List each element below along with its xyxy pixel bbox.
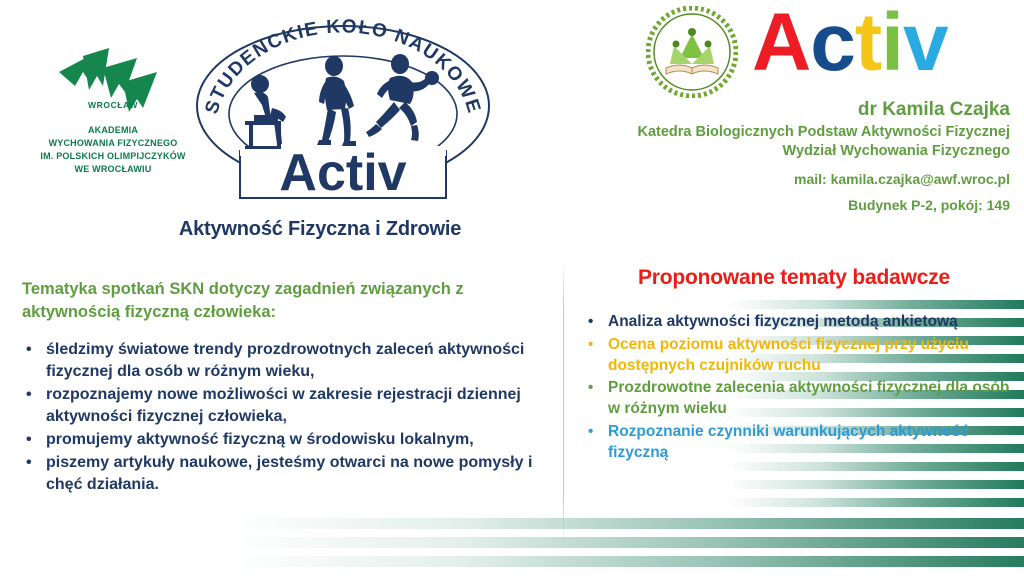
stripe-band	[0, 556, 1024, 567]
stripe-band	[600, 498, 1024, 507]
right-bullet-list: •Analiza aktywności fizycznej metodą ank…	[580, 312, 1018, 463]
bottom-stripes-decoration	[0, 518, 1024, 576]
right-bullet-text: Rozpoznanie czynniki warunkujących aktyw…	[608, 423, 969, 461]
awf-wroclaw-logo: WROCŁAW AKADEMIA WYCHOWANIA FIZYCZNEGO I…	[18, 42, 208, 176]
right-bullet-item: •Rozpoznanie czynniki warunkujących akty…	[580, 422, 1018, 464]
bullet-dot-icon: •	[26, 452, 32, 474]
stn-awf-seal-icon	[646, 6, 738, 98]
bullet-dot-icon: •	[26, 339, 32, 361]
left-column-heading: Tematyka spotkań SKN dotyczy zagadnień z…	[22, 278, 550, 325]
left-bullet-item: •rozpoznajemy nowe możliwości w zakresie…	[22, 384, 550, 428]
right-bullet-item: •Ocena poziomu aktywności fizycznej przy…	[580, 335, 1018, 377]
contact-faculty: Wydział Wychowania Fizycznego	[530, 142, 1010, 161]
right-bullet-item: •Analiza aktywności fizycznej metodą ank…	[580, 312, 1018, 333]
left-bullet-item: •promujemy aktywność fizyczną w środowis…	[22, 429, 550, 451]
activ-letter-i: i	[881, 0, 903, 88]
left-bullet-text: rozpoznajemy nowe możliwości w zakresie …	[46, 386, 521, 425]
awf-line-4: WE WROCŁAWIU	[18, 163, 208, 176]
left-content-column: Tematyka spotkań SKN dotyczy zagadnień z…	[22, 278, 550, 497]
right-bullet-item: •Prozdrowotne zalecenia aktywności fizyc…	[580, 378, 1018, 420]
bullet-dot-icon: •	[588, 378, 593, 398]
bullet-dot-icon: •	[26, 429, 32, 451]
activ-wordmark: Activ	[752, 2, 948, 84]
stripe-band	[0, 518, 1024, 529]
left-bullet-text: śledzimy światowe trendy prozdrowotnych …	[46, 341, 524, 380]
contact-block: dr Kamila Czajka Katedra Biologicznych P…	[530, 98, 1010, 213]
bullet-dot-icon: •	[26, 384, 32, 406]
right-bullet-text: Prozdrowotne zalecenia aktywności fizycz…	[608, 379, 1009, 417]
awf-name-lines: AKADEMIA WYCHOWANIA FIZYCZNEGO IM. POLSK…	[18, 124, 208, 176]
skn-activ-text: Activ	[279, 144, 406, 202]
left-bullet-text: piszemy artykuły naukowe, jesteśmy otwar…	[46, 454, 532, 493]
awf-line-1: AKADEMIA	[18, 124, 208, 137]
slide-canvas: WROCŁAW AKADEMIA WYCHOWANIA FIZYCZNEGO I…	[0, 0, 1024, 576]
left-bullet-item: •piszemy artykuły naukowe, jesteśmy otwa…	[22, 452, 550, 496]
skn-subtitle: Aktywność Fizyczna i Zdrowie	[140, 218, 500, 241]
right-bullet-text: Analiza aktywności fizycznej metodą anki…	[608, 313, 958, 330]
contact-department: Katedra Biologicznych Podstaw Aktywności…	[530, 123, 1010, 142]
skn-activ-logo: STUDENCKIE KOŁO NAUKOWE	[188, 2, 498, 214]
activ-letter-c: c	[810, 0, 855, 88]
awf-line-2: WYCHOWANIA FIZYCZNEGO	[18, 137, 208, 150]
activ-letter-a: A	[752, 0, 810, 88]
left-bullet-text: promujemy aktywność fizyczną w środowisk…	[46, 431, 474, 448]
right-column-heading: Proponowane tematy badawcze	[580, 266, 1018, 290]
right-content-column: Proponowane tematy badawcze •Analiza akt…	[580, 266, 1018, 465]
awf-line-3: IM. POLSKICH OLIMPIJCZYKÓW	[18, 150, 208, 163]
activ-letter-v: v	[903, 0, 948, 88]
left-bullet-list: •śledzimy światowe trendy prozdrowotnych…	[22, 339, 550, 497]
contact-email: mail: kamila.czajka@awf.wroc.pl	[530, 171, 1010, 187]
bullet-dot-icon: •	[588, 422, 593, 442]
left-bullet-item: •śledzimy światowe trendy prozdrowotnych…	[22, 339, 550, 383]
right-bullet-text: Ocena poziomu aktywności fizycznej przy …	[608, 336, 969, 374]
contact-room: Budynek P-2, pokój: 149	[530, 197, 1010, 213]
contact-name: dr Kamila Czajka	[530, 98, 1010, 122]
bullet-dot-icon: •	[588, 312, 593, 332]
awf-wordmark: WROCŁAW	[18, 100, 208, 110]
bullet-dot-icon: •	[588, 335, 593, 355]
activ-letter-t: t	[855, 0, 881, 88]
stripe-band	[0, 537, 1024, 548]
stripe-band	[600, 480, 1024, 489]
column-divider	[563, 258, 564, 548]
